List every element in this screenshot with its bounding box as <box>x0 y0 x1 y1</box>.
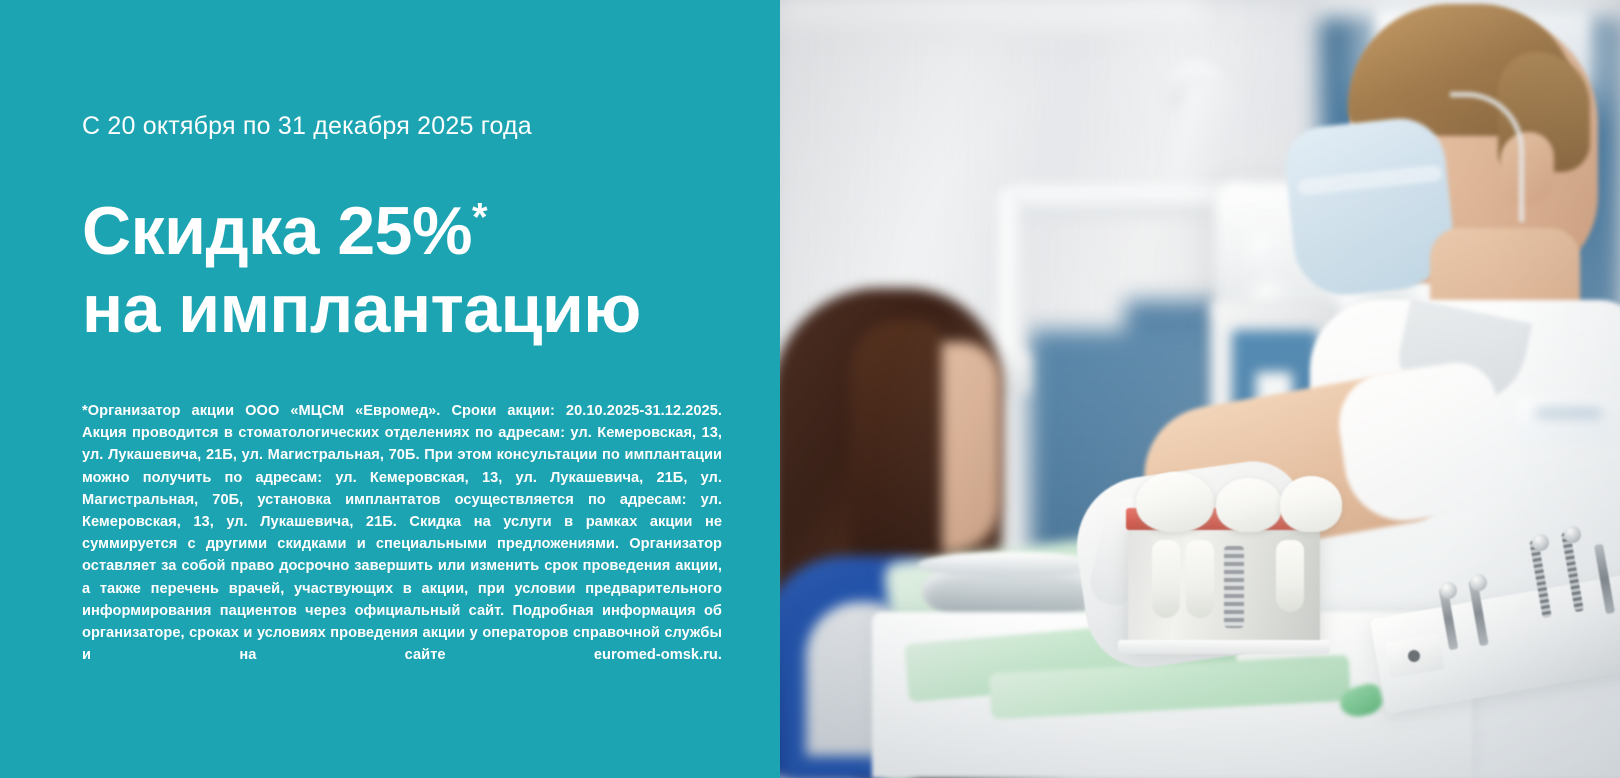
steel-bowl-rim <box>918 552 1104 578</box>
headline-line-2: на имплантацию <box>82 270 742 348</box>
implant-screw <box>1224 546 1244 628</box>
lamp-arm-vertical <box>992 192 1022 367</box>
promo-content: С 20 октября по 31 декабря 2025 года Ски… <box>82 0 722 778</box>
implant-kit-socket <box>1408 650 1420 662</box>
legal-disclaimer-text: *Организатор акции ООО «МЦСМ «Евромед». … <box>82 400 722 689</box>
drill-head <box>1564 526 1581 543</box>
drill-head <box>1532 534 1549 551</box>
model-tooth <box>1136 472 1214 532</box>
model-tooth-root <box>1152 540 1180 618</box>
name-badge <box>1516 398 1612 440</box>
implant-model-stand <box>1118 640 1330 654</box>
model-tooth <box>1280 476 1342 532</box>
drill-head <box>1440 582 1457 599</box>
model-tooth-root <box>1276 540 1304 612</box>
lamp-bulb <box>1252 236 1278 262</box>
promo-banner: С 20 октября по 31 декабря 2025 года Ски… <box>0 0 1620 778</box>
headline-discount-text: Скидка 25% <box>82 193 472 269</box>
promo-date-range: С 20 октября по 31 декабря 2025 года <box>82 112 532 141</box>
page-title: Скидка 25%* на имплантацию <box>82 192 742 348</box>
photo-scene <box>780 0 1620 778</box>
model-tooth <box>1216 478 1282 532</box>
name-badge-line <box>1536 410 1602 416</box>
model-tooth-root <box>1186 540 1214 618</box>
promo-text-panel: С 20 октября по 31 декабря 2025 года Ски… <box>0 0 780 778</box>
footnote-asterisk: * <box>472 195 487 239</box>
drill-head <box>1470 574 1487 591</box>
clinic-photo <box>780 0 1620 778</box>
ceiling-left <box>780 0 1200 34</box>
headline-line-1: Скидка 25%* <box>82 192 742 270</box>
